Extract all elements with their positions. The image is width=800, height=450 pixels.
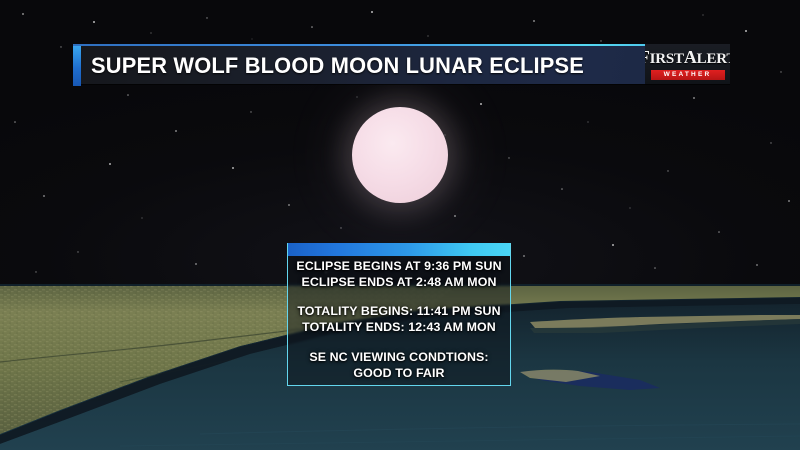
logo-lert: LERT <box>697 51 730 67</box>
eclipse-begins-line: ECLIPSE BEGINS AT 9:36 PM SUN <box>288 259 510 275</box>
logo-subtitle: WEATHER <box>651 70 725 80</box>
info-panel-body: ECLIPSE BEGINS AT 9:36 PM SUN ECLIPSE EN… <box>288 256 510 386</box>
eclipse-info-panel: ECLIPSE BEGINS AT 9:36 PM SUN ECLIPSE EN… <box>287 243 511 386</box>
viewing-conditions-group: SE NC VIEWING CONDTIONS: GOOD TO FAIR <box>288 350 510 381</box>
info-panel-header-bar <box>288 243 510 256</box>
viewing-conditions-label: SE NC VIEWING CONDTIONS: <box>288 350 510 366</box>
totality-times-group: TOTALITY BEGINS: 11:41 PM SUN TOTALITY E… <box>288 304 510 335</box>
page-title: SUPER WOLF BLOOD MOON LUNAR ECLIPSE <box>91 46 584 86</box>
first-alert-weather-logo: FIRSTALERT WEATHER <box>645 44 730 84</box>
logo-a: A <box>684 47 697 67</box>
spacer-two <box>288 335 510 350</box>
totality-begins-line: TOTALITY BEGINS: 11:41 PM SUN <box>288 304 510 320</box>
headline-banner: SUPER WOLF BLOOD MOON LUNAR ECLIPSE <box>73 44 730 84</box>
logo-wordmark: FIRSTALERT <box>645 49 730 68</box>
viewing-conditions-value: GOOD TO FAIR <box>288 366 510 382</box>
eclipse-times-group: ECLIPSE BEGINS AT 9:36 PM SUN ECLIPSE EN… <box>288 259 510 290</box>
weather-graphic-stage: SUPER WOLF BLOOD MOON LUNAR ECLIPSE FIRS… <box>0 0 800 450</box>
blood-moon <box>352 107 448 203</box>
spacer-one <box>288 290 510 304</box>
banner-accent-bar <box>73 46 81 86</box>
logo-irst: IRST <box>650 51 684 67</box>
eclipse-ends-line: ECLIPSE ENDS AT 2:48 AM MON <box>288 275 510 291</box>
totality-ends-line: TOTALITY ENDS: 12:43 AM MON <box>288 320 510 336</box>
